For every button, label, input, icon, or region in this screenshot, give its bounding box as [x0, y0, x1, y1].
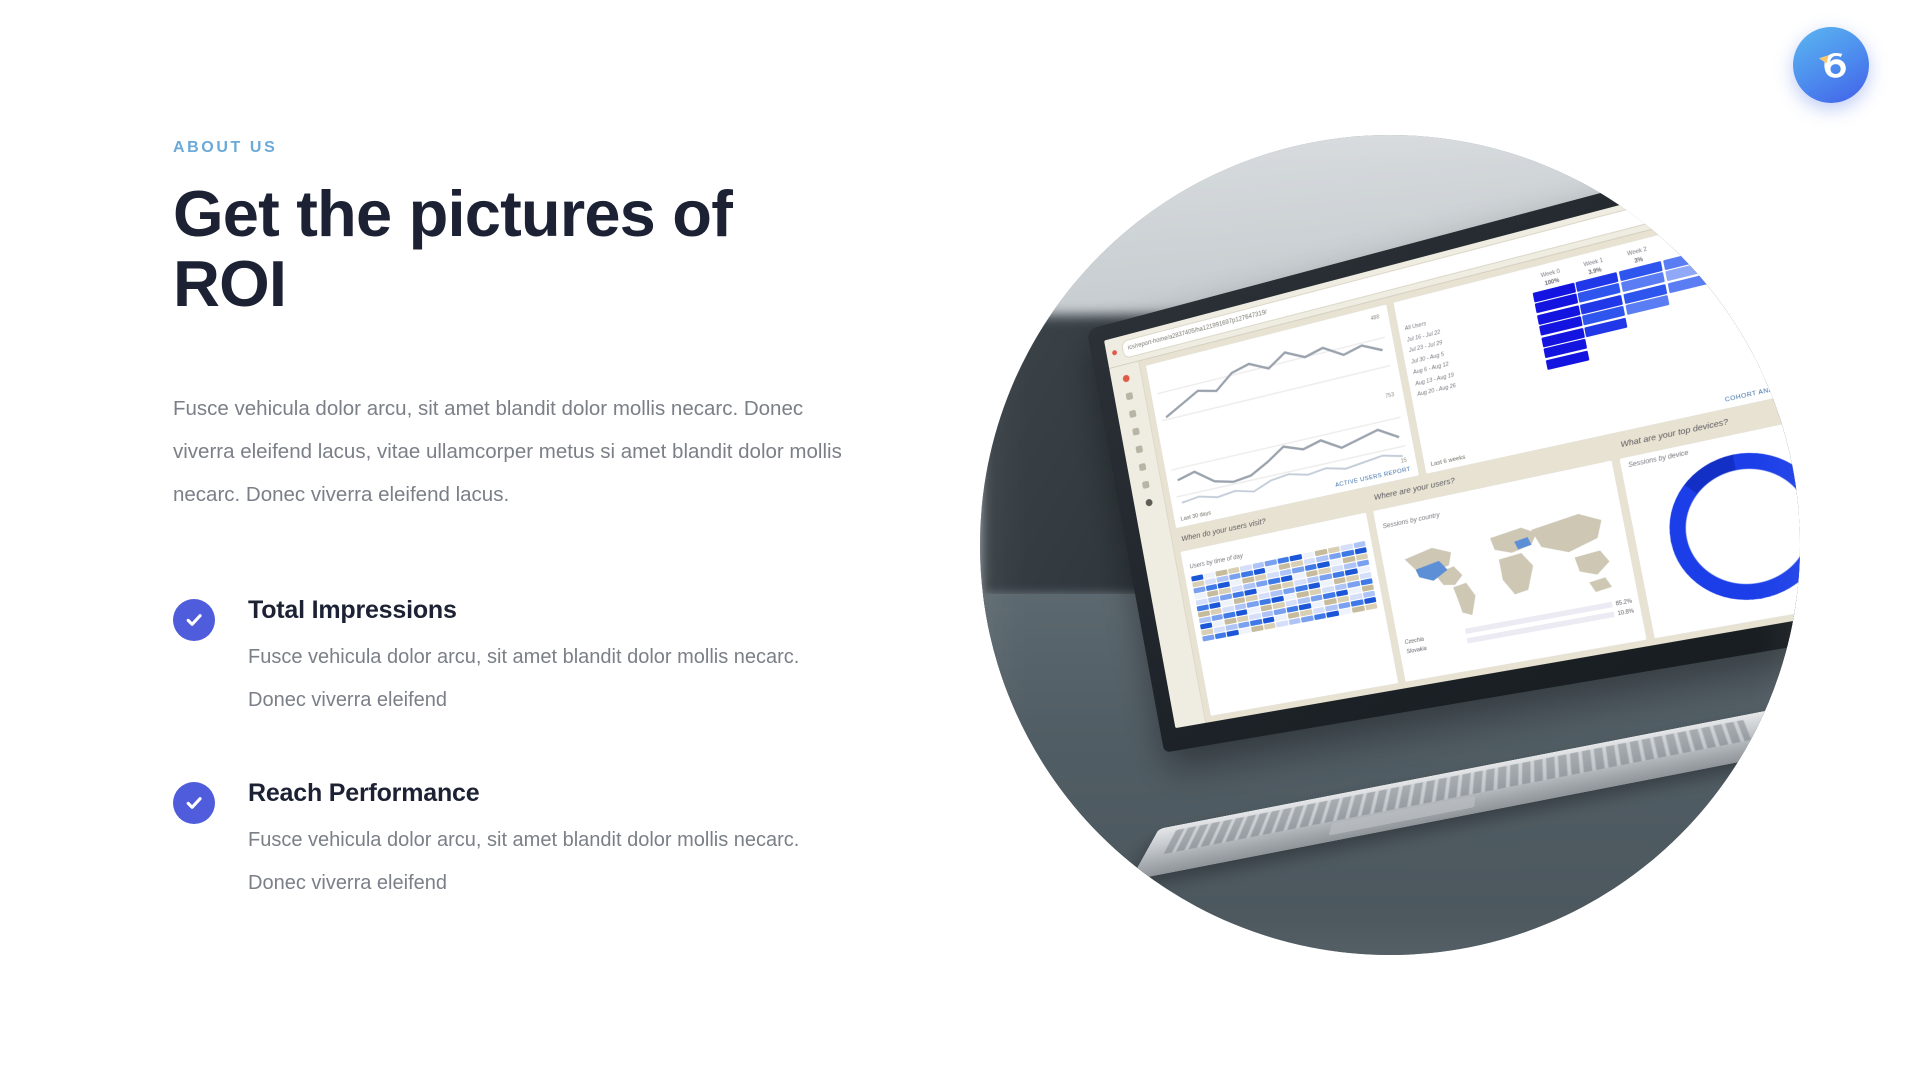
axis-value-low: 15 [1400, 458, 1407, 466]
geo-bar-value: 10.8% [1617, 607, 1635, 617]
about-copy-column: ABOUT US Get the pictures of ROI Fusce v… [173, 138, 863, 904]
time-of-day-cell [1365, 603, 1378, 610]
sidebar-explore-icon[interactable] [1132, 428, 1140, 436]
time-of-day-cell [1352, 606, 1365, 613]
time-of-day-cell [1251, 625, 1263, 632]
feature-title: Total Impressions [248, 595, 863, 626]
time-of-day-cell [1215, 632, 1227, 639]
cohort-range-selector[interactable]: Last 6 weeks [1430, 455, 1466, 469]
feature-description: Fusce vehicula dolor arcu, sit amet blan… [248, 636, 848, 721]
time-of-day-cell [1227, 630, 1239, 637]
geo-bar-value: 85.2% [1615, 598, 1633, 608]
section-description: Fusce vehicula dolor arcu, sit amet blan… [173, 387, 845, 517]
time-of-day-cell [1239, 628, 1251, 635]
browser-dot-icon [1112, 349, 1118, 355]
about-section: ABOUT US Get the pictures of ROI Fusce v… [0, 0, 1920, 1080]
time-of-day-cell [1276, 620, 1288, 627]
sidebar-logo-icon [1123, 375, 1131, 384]
time-of-day-cell [1326, 611, 1339, 618]
feature-list: Total Impressions Fusce vehicula dolor a… [173, 595, 863, 904]
check-circle-icon [173, 782, 215, 824]
page-title: Get the pictures of ROI [173, 179, 833, 319]
time-of-day-heatmap [1191, 541, 1377, 642]
sidebar-reports-icon[interactable] [1129, 410, 1137, 418]
sidebar-behavior-icon[interactable] [1142, 481, 1150, 489]
logo-6-icon [1809, 43, 1853, 87]
overflow-menu-icon[interactable]: ⋮ [1785, 171, 1797, 184]
list-item: Reach Performance Fusce vehicula dolor a… [173, 778, 863, 904]
time-of-day-cell [1203, 635, 1215, 642]
sidebar-audience-icon[interactable] [1136, 445, 1144, 453]
sidebar-home-icon[interactable] [1126, 392, 1134, 401]
feature-title: Reach Performance [248, 778, 863, 809]
devices-title: Sessions by device [1628, 450, 1689, 469]
time-of-day-cell [1301, 616, 1314, 623]
feature-description: Fusce vehicula dolor arcu, sit amet blan… [248, 819, 848, 904]
brand-logo-badge[interactable] [1793, 27, 1869, 103]
sidebar-settings-icon[interactable] [1145, 499, 1153, 507]
time-of-day-card: Users by time of day [1180, 512, 1400, 717]
bookmark-star-icon[interactable]: ☆ [1769, 175, 1780, 187]
sessions-by-device-donut [1657, 438, 1800, 612]
time-of-day-cell [1314, 613, 1327, 620]
sidebar-acquisition-icon[interactable] [1139, 463, 1147, 471]
list-item: Total Impressions Fusce vehicula dolor a… [173, 595, 863, 721]
time-of-day-cell [1289, 618, 1301, 625]
section-eyebrow: ABOUT US [173, 138, 863, 157]
cohort-report-link[interactable]: COHORT ANALYSIS REPORT [1725, 375, 1800, 404]
check-circle-icon [173, 599, 215, 641]
time-of-day-cell [1264, 623, 1276, 630]
time-of-day-cell [1339, 608, 1352, 615]
hero-photo-circle: ics/report-home/a2837405/ha121991697p127… [980, 135, 1800, 955]
